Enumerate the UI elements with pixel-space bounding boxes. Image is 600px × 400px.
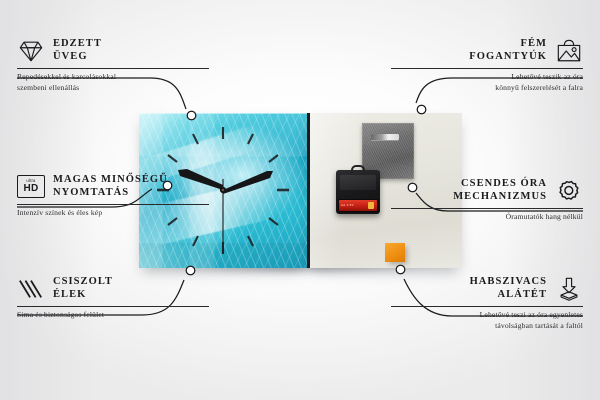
anchor-dot-habszivacs — [396, 265, 405, 274]
callout-title: HABSZIVACS ALÁTÉT — [470, 276, 547, 302]
callout-title: CSENDES ÓRA MECHANIZMUS — [453, 178, 547, 204]
callout-habszivacs-alatet: HABSZIVACS ALÁTÉT Lehetővé teszi az óra … — [391, 276, 583, 332]
callout-header: CSENDES ÓRA MECHANIZMUS — [391, 178, 583, 204]
callout-title: EDZETT ÜVEG — [53, 38, 102, 64]
ultra-hd-badge-bottom: HD — [23, 184, 38, 194]
callout-header: CSISZOLT ÉLEK — [17, 276, 209, 302]
callout-divider — [17, 68, 209, 69]
callout-title: MAGAS MINŐSÉGŰ NYOMTATÁS — [53, 174, 168, 200]
callout-description: Lehetővé teszik az óra könnyű felszerelé… — [391, 72, 583, 94]
callout-description: Repedésekkel és karcolásokkal szembeni e… — [17, 72, 209, 94]
callout-description: Óramutatók hang nélkül — [391, 212, 583, 223]
ultra-hd-badge-icon: ultra HD — [17, 175, 45, 198]
callout-header: HABSZIVACS ALÁTÉT — [391, 276, 583, 302]
callout-magas-minosegu-nyomtatas: ultra HD MAGAS MINŐSÉGŰ NYOMTATÁS Intenz… — [17, 174, 209, 218]
callout-header: EDZETT ÜVEG — [17, 38, 209, 64]
callout-divider — [391, 306, 583, 307]
foam-pad-arrow-icon — [555, 276, 583, 302]
callout-description: Sima és biztonságos felület — [17, 310, 209, 321]
callout-description: Intenzív színek és éles kép — [17, 208, 209, 219]
callout-description: Lehetővé teszi az óra egyenletes távolsá… — [391, 310, 583, 332]
callout-edzett-uveg: EDZETT ÜVEG Repedésekkel és karcolásokka… — [17, 38, 209, 94]
infographic-canvas: AA 1.5V — [0, 0, 600, 400]
callout-divider — [391, 68, 583, 69]
callout-header: ultra HD MAGAS MINŐSÉGŰ NYOMTATÁS — [17, 174, 209, 200]
callout-csiszolt-elek: CSISZOLT ÉLEK Sima és biztonságos felüle… — [17, 276, 209, 321]
callout-title: CSISZOLT ÉLEK — [53, 276, 113, 302]
anchor-dot-edzett-uveg — [187, 111, 196, 120]
callout-divider — [17, 204, 209, 205]
polished-edges-icon — [17, 276, 45, 302]
callout-divider — [17, 306, 209, 307]
anchor-dot-csiszolt-elek — [186, 266, 195, 275]
diamond-icon — [17, 38, 45, 64]
gear-icon — [555, 178, 583, 204]
callout-divider — [391, 208, 583, 209]
callout-title: FÉM FOGANTYÚK — [469, 38, 547, 64]
callout-fem-fogantyuk: FÉM FOGANTYÚK Lehetővé teszik az óra kön… — [391, 38, 583, 94]
picture-hanger-icon — [555, 38, 583, 64]
anchor-dot-fem-fogantyuk — [417, 105, 426, 114]
callout-csendes-ora-mechanizmus: CSENDES ÓRA MECHANIZMUS Óramutatók hang … — [391, 178, 583, 223]
callout-header: FÉM FOGANTYÚK — [391, 38, 583, 64]
